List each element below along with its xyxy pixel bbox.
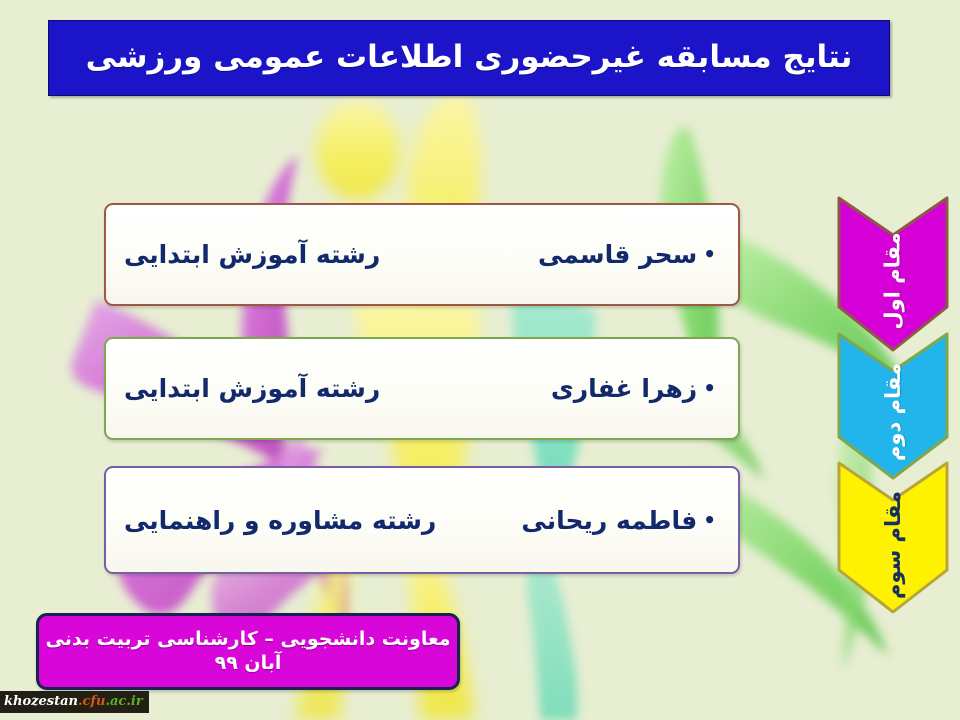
watermark-part-ac: .ac — [105, 691, 126, 713]
result-row: •زهرا غفاری رشته آموزش ابتدایی مقام دوم — [104, 337, 846, 440]
result-card: •زهرا غفاری رشته آموزش ابتدایی — [104, 337, 740, 440]
winner-name: زهرا غفاری — [551, 374, 697, 403]
results-list: •سحر قاسمی رشته آموزش ابتدایی مقام اول •… — [0, 0, 960, 720]
watermark-part-domain: khozestan — [4, 691, 78, 713]
result-card: •فاطمه ریحانی رشته مشاوره و راهنمایی — [104, 466, 740, 574]
rank-chevron-second: مقام دوم — [836, 331, 950, 481]
footer-credit-box: معاونت دانشجویی – کارشناسی تربیت بدنی آب… — [36, 613, 460, 690]
bullet-icon: • — [703, 242, 716, 266]
winner-field: رشته آموزش ابتدایی — [124, 374, 380, 403]
rank-chevron-first: مقام اول — [836, 195, 950, 353]
rank-chevron-third: مقام سوم — [836, 460, 950, 615]
winner-name-entry: •سحر قاسمی — [538, 240, 716, 269]
bullet-icon: • — [703, 508, 716, 532]
footer-text: معاونت دانشجویی – کارشناسی تربیت بدنی آب… — [46, 628, 451, 674]
winner-field: رشته آموزش ابتدایی — [124, 240, 380, 269]
result-row: •سحر قاسمی رشته آموزش ابتدایی مقام اول — [104, 203, 846, 306]
page-title: نتایج مسابقه غیرحضوری اطلاعات عمومی ورزش… — [86, 40, 853, 76]
result-card: •سحر قاسمی رشته آموزش ابتدایی — [104, 203, 740, 306]
site-watermark: khozestan.cfu.ac.ir — [0, 691, 149, 713]
winner-name: فاطمه ریحانی — [521, 506, 697, 535]
winner-name: سحر قاسمی — [538, 240, 697, 269]
watermark-part-cfu: .cfu — [78, 691, 106, 713]
footer-line-2: آبان ۹۹ — [46, 652, 451, 675]
watermark-part-ir: .ir — [126, 691, 142, 713]
result-row: •فاطمه ریحانی رشته مشاوره و راهنمایی مقا… — [104, 466, 846, 574]
winner-name-entry: •زهرا غفاری — [551, 374, 716, 403]
slide-title-banner: نتایج مسابقه غیرحضوری اطلاعات عمومی ورزش… — [48, 20, 890, 96]
bullet-icon: • — [703, 376, 716, 400]
footer-line-1: معاونت دانشجویی – کارشناسی تربیت بدنی — [46, 628, 451, 650]
winner-name-entry: •فاطمه ریحانی — [521, 506, 716, 535]
winner-field: رشته مشاوره و راهنمایی — [124, 506, 436, 535]
